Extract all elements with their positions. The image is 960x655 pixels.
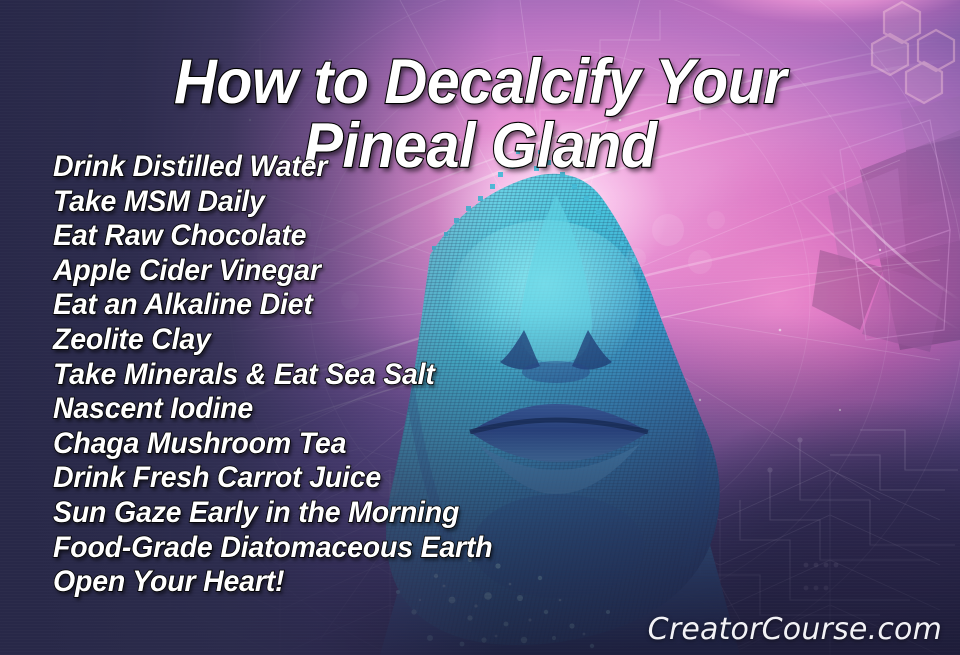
list-item: Apple Cider Vinegar xyxy=(53,254,492,289)
list-item: Chaga Mushroom Tea xyxy=(53,427,492,462)
list-item: Zeolite Clay xyxy=(53,323,492,358)
list-item: Food-Grade Diatomaceous Earth xyxy=(53,531,492,566)
list-item: Drink Distilled Water xyxy=(53,150,492,185)
poster: How to Decalcify Your Pineal Gland Drink… xyxy=(0,0,960,655)
list-item: Take MSM Daily xyxy=(53,185,492,220)
list-item: Sun Gaze Early in the Morning xyxy=(53,496,492,531)
list-item: Take Minerals & Eat Sea Salt xyxy=(53,358,492,393)
list-item: Eat an Alkaline Diet xyxy=(53,288,492,323)
watermark-credit: CreatorCourse.com xyxy=(648,612,942,647)
list-item: Drink Fresh Carrot Juice xyxy=(53,461,492,496)
list-item: Open Your Heart! xyxy=(53,565,492,600)
tips-list: Drink Distilled Water Take MSM Daily Eat… xyxy=(53,150,516,600)
list-item: Nascent Iodine xyxy=(53,392,492,427)
list-item: Eat Raw Chocolate xyxy=(53,219,492,254)
